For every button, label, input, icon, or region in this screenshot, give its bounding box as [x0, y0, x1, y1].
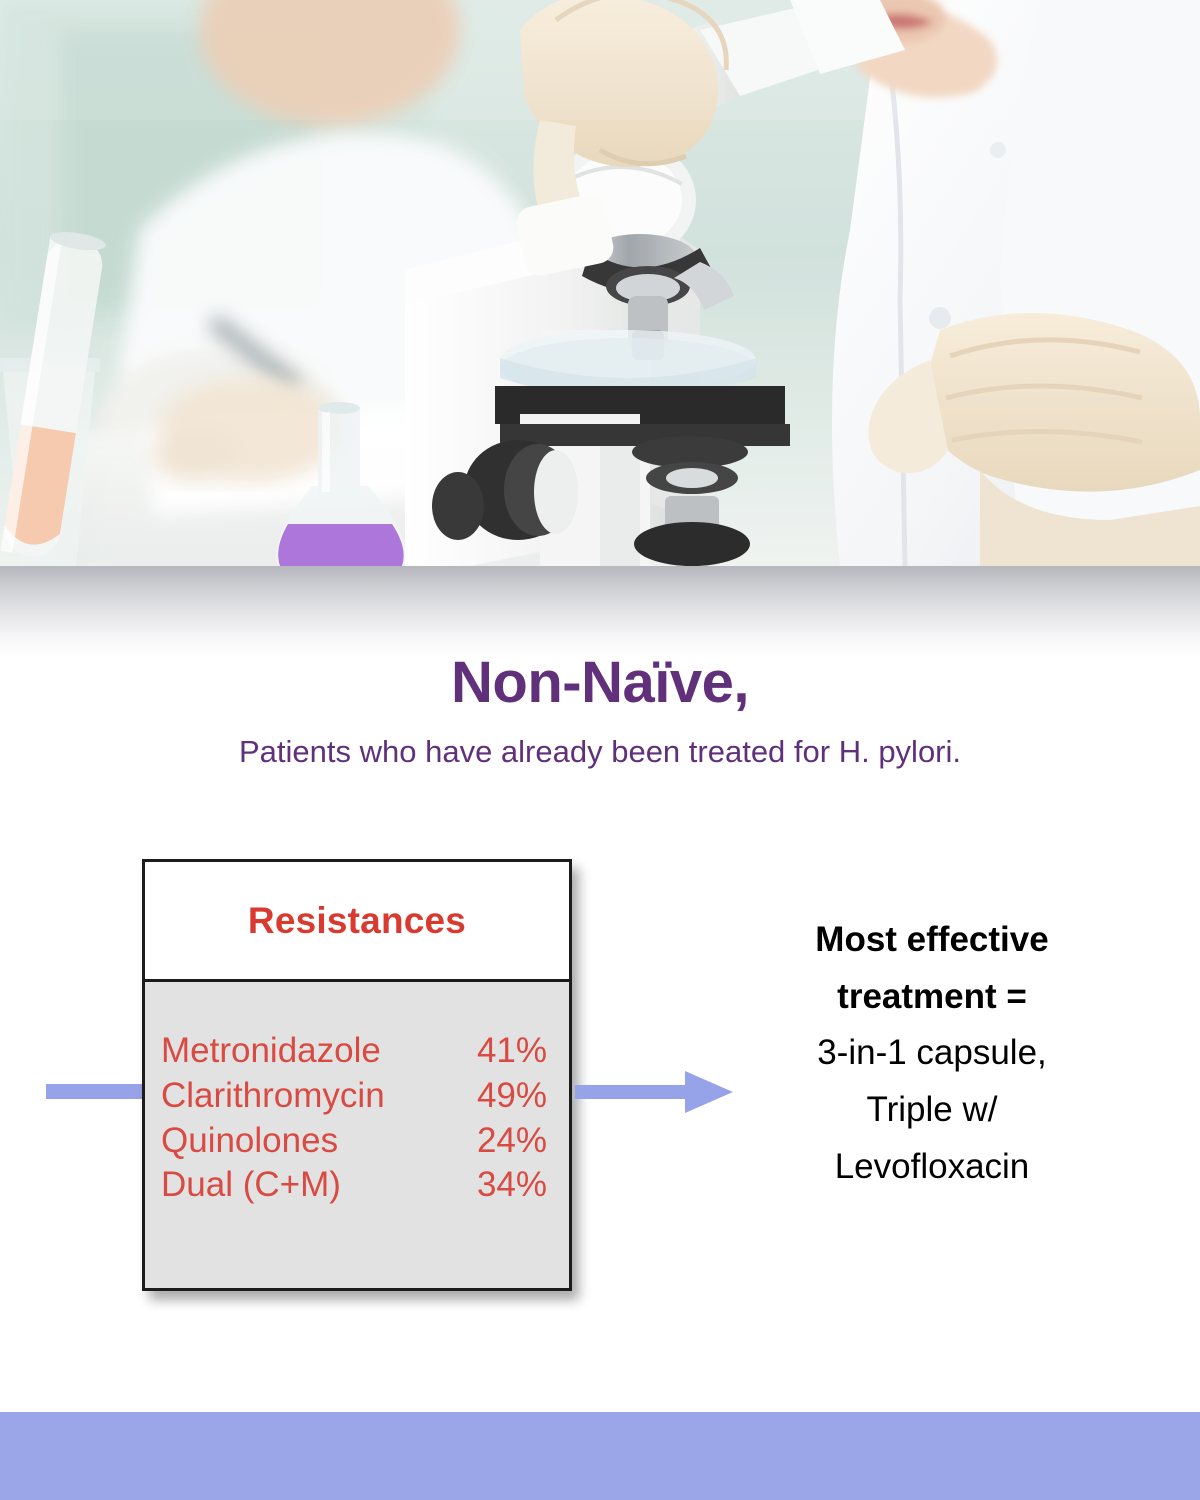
arrow-connector-right-icon: [575, 1068, 735, 1116]
resistance-percent: 41%: [477, 1029, 547, 1074]
page-subtitle: Patients who have already been treated f…: [0, 733, 1200, 770]
resistances-table-header: Resistances: [145, 862, 569, 982]
treatment-line: Most effective: [744, 912, 1120, 969]
most-effective-treatment-block: Most effective treatment = 3-in-1 capsul…: [744, 912, 1120, 1195]
photo-illustration: [0, 0, 1200, 566]
table-row: Dual (C+M) 34%: [161, 1163, 547, 1208]
resistances-table: Resistances Metronidazole 41% Clarithrom…: [142, 859, 572, 1291]
page-title: Non-Naïve,: [0, 652, 1200, 715]
resistance-drug-name: Dual (C+M): [161, 1163, 341, 1208]
arrow-connector-left-icon: [46, 1084, 146, 1099]
treatment-line: Triple w/: [744, 1082, 1120, 1139]
resistance-percent: 24%: [477, 1119, 547, 1164]
bottom-accent-bar: [0, 1412, 1200, 1500]
table-row: Metronidazole 41%: [161, 1029, 547, 1074]
title-area: Non-Naïve, Patients who have already bee…: [0, 652, 1200, 770]
resistance-percent: 34%: [477, 1163, 547, 1208]
treatment-line: 3-in-1 capsule,: [744, 1025, 1120, 1082]
resistance-drug-name: Quinolones: [161, 1119, 338, 1164]
table-row: Clarithromycin 49%: [161, 1074, 547, 1119]
resistance-drug-name: Clarithromycin: [161, 1074, 385, 1119]
treatment-line: Levofloxacin: [744, 1139, 1120, 1196]
lab-microscope-photo: [0, 0, 1200, 566]
table-row: Quinolones 24%: [161, 1119, 547, 1164]
resistances-table-body: Metronidazole 41% Clarithromycin 49% Qui…: [145, 982, 569, 1288]
banner-gradient-divider: [0, 566, 1200, 658]
treatment-line: treatment =: [744, 969, 1120, 1026]
resistances-title: Resistances: [248, 900, 466, 942]
resistance-drug-name: Metronidazole: [161, 1029, 381, 1074]
slide-root: Non-Naïve, Patients who have already bee…: [0, 0, 1200, 1500]
resistance-percent: 49%: [477, 1074, 547, 1119]
